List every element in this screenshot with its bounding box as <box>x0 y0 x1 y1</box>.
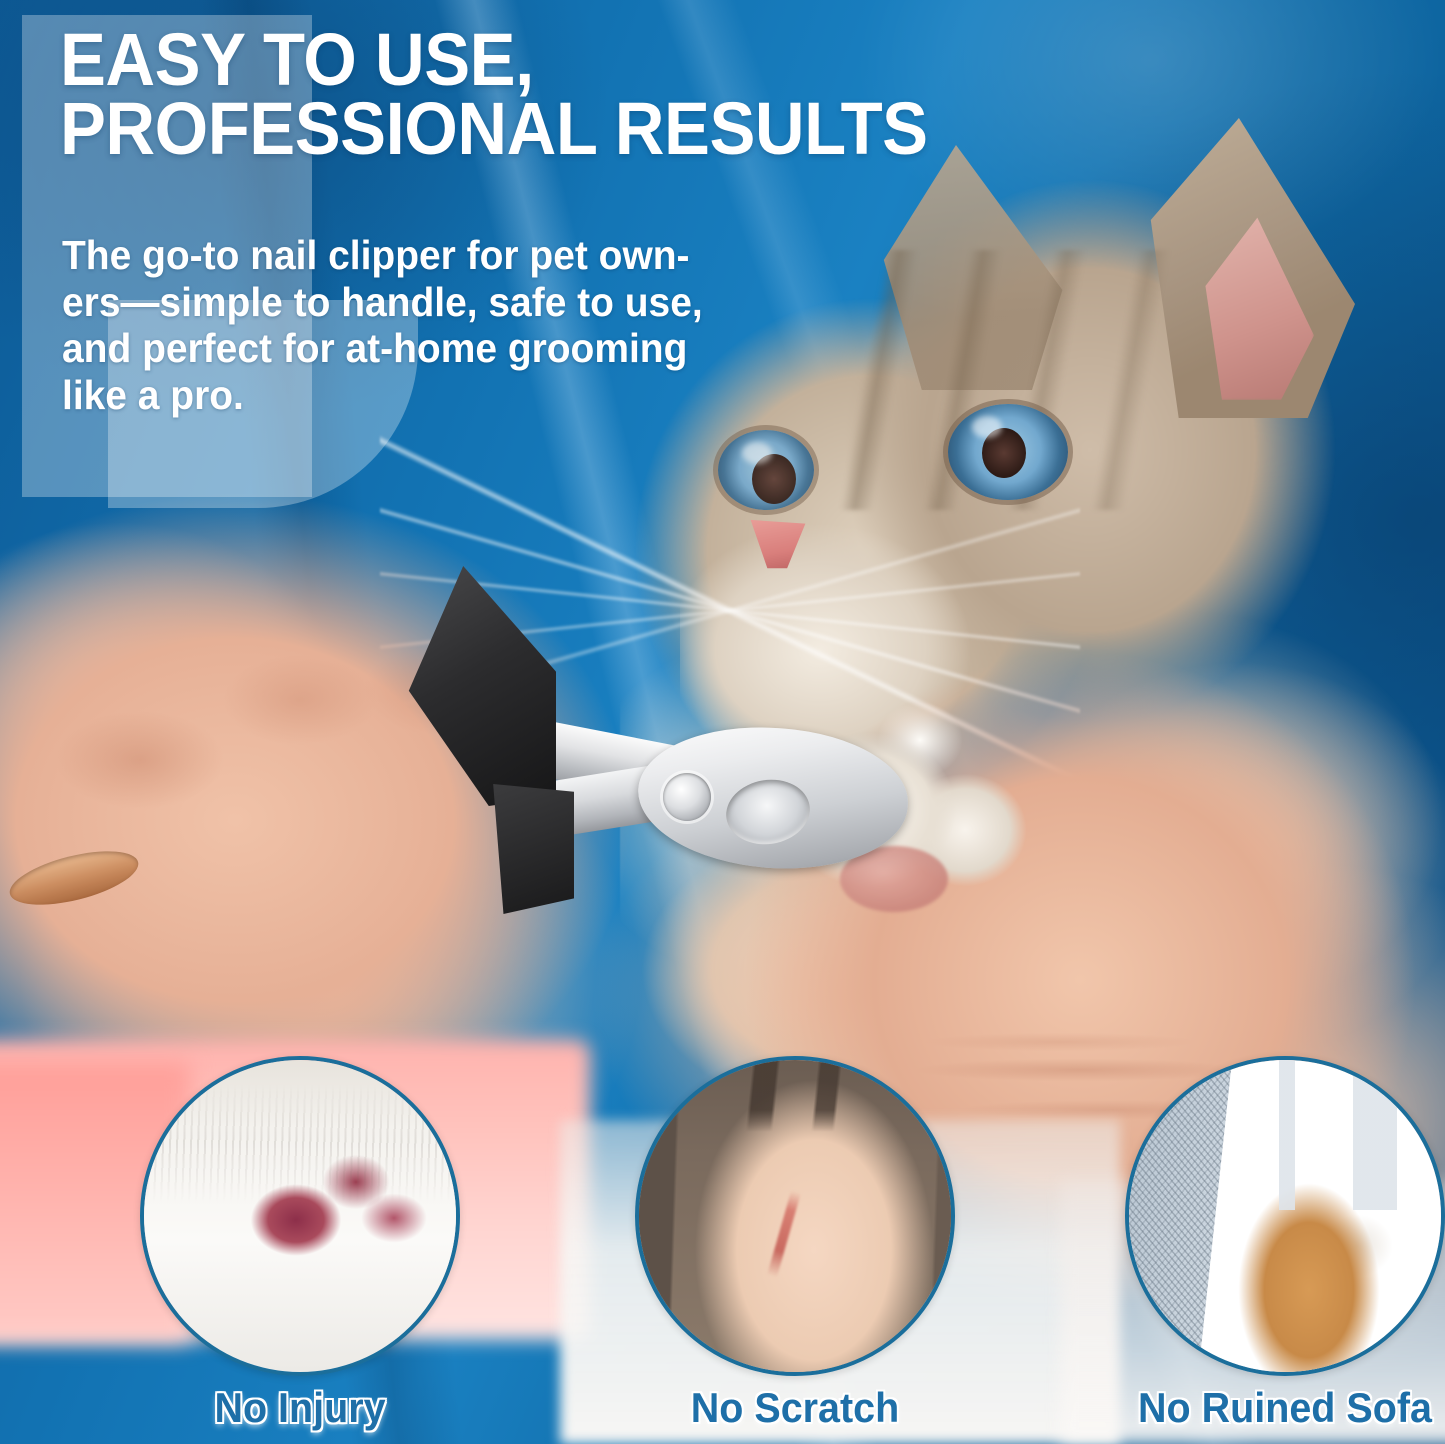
clipper-rivet <box>663 773 711 821</box>
feature-caption-no-ruined-sofa: No Ruined Sofa <box>1135 1384 1436 1432</box>
feature-caption-no-scratch: No Scratch <box>645 1384 946 1432</box>
paw-fur-texture <box>144 1060 456 1372</box>
subheadline-description: The go-to nail clipper for pet own- ers—… <box>62 232 832 419</box>
feature-image-no-injury <box>140 1056 460 1376</box>
page-title: EASY TO USE, PROFESSIONAL RESULTS <box>60 26 1176 164</box>
product-infographic-poster: EASY TO USE, PROFESSIONAL RESULTS The go… <box>0 0 1445 1444</box>
hand-finger-gaps <box>639 1060 951 1372</box>
feature-caption-no-injury: No Injury <box>150 1384 451 1432</box>
feature-image-no-scratch <box>635 1056 955 1376</box>
feature-image-no-ruined-sofa <box>1125 1056 1445 1376</box>
window-frame <box>1279 1060 1397 1210</box>
